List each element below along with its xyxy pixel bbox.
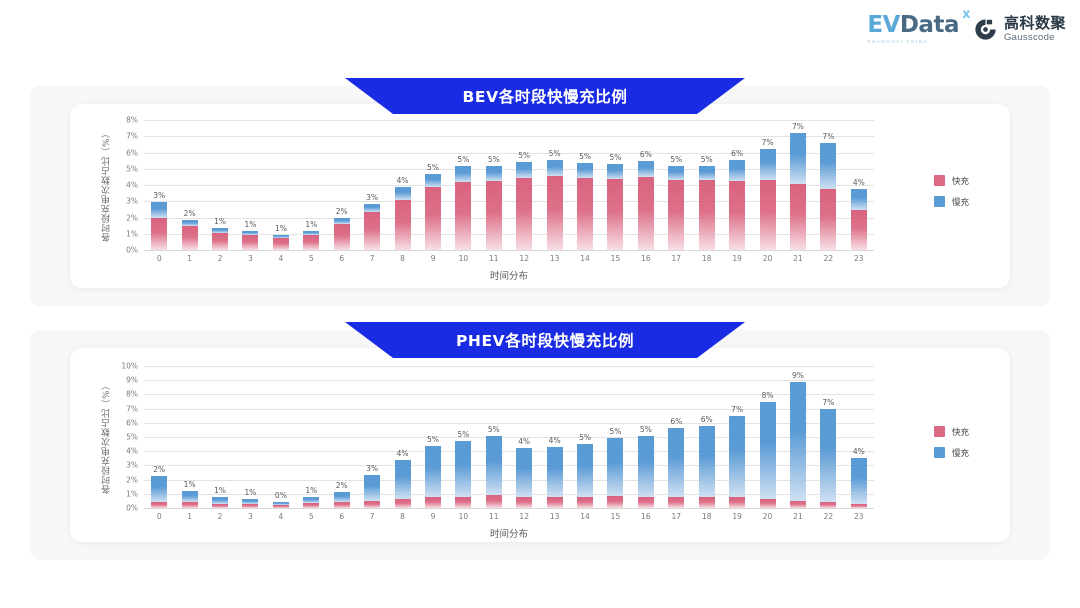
- chart-bev-bar[interactable]: [273, 235, 289, 250]
- chart-phev-bar-slow-segment: [395, 460, 411, 499]
- chart-phev-x-tick: 23: [854, 512, 864, 521]
- chart-phev-y-tick: 7%: [114, 404, 138, 413]
- chart-bev-bar-fast-segment: [242, 235, 258, 250]
- chart-phev-x-axis-label: 时间分布: [144, 526, 874, 540]
- chart-phev-bar-fast-segment: [760, 499, 776, 508]
- chart-phev-bar[interactable]: [851, 458, 867, 508]
- chart-bev-x-tick: 18: [702, 254, 712, 263]
- chart-bev-bar[interactable]: [455, 166, 471, 250]
- chart-phev-x-tick: 14: [580, 512, 590, 521]
- chart-bev-bar-value-label: 4%: [853, 178, 865, 187]
- chart-bev-bar-value-label: 5%: [670, 155, 682, 164]
- chart-phev-x-axis-line: [144, 508, 874, 509]
- chart-phev-bar-slow-segment: [699, 426, 715, 496]
- logo-group: EVDatax SHANGHAI CHINA 高科数聚 Gausscode: [867, 14, 1066, 44]
- chart-bev-bar-value-label: 1%: [245, 220, 257, 229]
- chart-bev-bar-value-label: 5%: [518, 151, 530, 160]
- chart-bev-bar-value-label: 1%: [305, 220, 317, 229]
- chart-bev-bar-slow-segment: [516, 162, 532, 177]
- chart-bev-bar-slow-segment: [820, 143, 836, 189]
- chart-phev-bar-value-label: 5%: [457, 430, 469, 439]
- chart-bev-bar-fast-segment: [364, 212, 380, 250]
- chart-phev-bar-fast-segment: [607, 496, 623, 508]
- chart-bev-bar-fast-segment: [668, 180, 684, 250]
- chart-phev-bar-slow-segment: [760, 402, 776, 499]
- chart-bev-x-tick: 6: [339, 254, 344, 263]
- chart-phev-bar[interactable]: [516, 448, 532, 508]
- chart-phev-bar-slow-segment: [364, 475, 380, 501]
- chart-bev-bar-value-label: 4%: [397, 176, 409, 185]
- chart-phev-bar[interactable]: [395, 460, 411, 508]
- chart-phev-x-tick: 19: [732, 512, 742, 521]
- chart-phev-bar[interactable]: [577, 444, 593, 508]
- chart-bev-bar[interactable]: [729, 160, 745, 250]
- chart-phev-y-tick: 3%: [114, 461, 138, 470]
- chart-phev-x-tick: 13: [550, 512, 560, 521]
- chart-bev-bar[interactable]: [516, 162, 532, 250]
- chart-bev-bar-fast-segment: [182, 226, 198, 250]
- gausscode-cn-name: 高科数聚: [1004, 16, 1066, 31]
- chart-phev-x-tick: 2: [218, 512, 223, 521]
- chart-phev-bar-slow-segment: [668, 428, 684, 496]
- chart-phev-bar-fast-segment: [395, 499, 411, 508]
- evdata-x-icon: x: [962, 8, 970, 21]
- chart-bev-bar-fast-segment: [790, 184, 806, 250]
- chart-bev-bar-value-label: 5%: [610, 153, 622, 162]
- chart-bev-bar-fast-segment: [486, 181, 502, 250]
- chart-phev-y-tick: 0%: [114, 504, 138, 513]
- bev-card: 各时段充电次数占比（%）0%1%2%3%4%5%6%7%8%3%02%11%21…: [70, 104, 1010, 288]
- chart-phev-bar-value-label: 4%: [549, 436, 561, 445]
- evdata-ev-text: EV: [867, 12, 900, 38]
- chart-phev-x-tick: 10: [459, 512, 469, 521]
- chart-bev-bar-value-label: 5%: [457, 155, 469, 164]
- chart-bev-bar-value-label: 5%: [549, 149, 561, 158]
- chart-phev-y-tick: 5%: [114, 433, 138, 442]
- chart-phev-bar-slow-segment: [851, 458, 867, 503]
- chart-phev-x-tick: 8: [400, 512, 405, 521]
- chart-phev-bar-fast-segment: [486, 495, 502, 508]
- chart-phev-bar[interactable]: [303, 497, 319, 508]
- chart-bev-x-tick: 13: [550, 254, 560, 263]
- chart-phev-bar-value-label: 1%: [305, 486, 317, 495]
- chart-bev-x-axis-line: [144, 250, 874, 251]
- chart-phev-bar-value-label: 3%: [366, 464, 378, 473]
- chart-bev-bar-value-label: 1%: [214, 217, 226, 226]
- chart-bev-bar-fast-segment: [638, 177, 654, 250]
- chart-phev-bar[interactable]: [151, 476, 167, 508]
- chart-bev-bar[interactable]: [151, 202, 167, 250]
- chart-phev-bar-value-label: 7%: [731, 405, 743, 414]
- chart-bev-bar-slow-segment: [607, 164, 623, 179]
- chart-phev-bar-slow-segment: [425, 446, 441, 498]
- chart-phev-bar-slow-segment: [182, 491, 198, 502]
- chart-bev-x-tick: 12: [519, 254, 529, 263]
- chart-phev-bar[interactable]: [364, 475, 380, 508]
- chart-bev-x-tick: 15: [611, 254, 621, 263]
- chart-phev-x-tick: 15: [611, 512, 621, 521]
- chart-phev-bar[interactable]: [668, 428, 684, 508]
- chart-phev-bar[interactable]: [486, 436, 502, 508]
- chart-bev-legend-swatch-fast: [934, 175, 945, 186]
- chart-bev-bar-value-label: 1%: [275, 224, 287, 233]
- chart-phev-y-tick: 8%: [114, 390, 138, 399]
- chart-bev-y-tick: 1%: [114, 229, 138, 238]
- chart-phev-bar-fast-segment: [455, 497, 471, 508]
- chart-phev-bar[interactable]: [425, 446, 441, 508]
- chart-phev-y-tick: 4%: [114, 447, 138, 456]
- chart-bev-legend-label-slow: 慢充: [952, 196, 969, 208]
- chart-phev-x-tick: 6: [339, 512, 344, 521]
- chart-phev-bar-value-label: 6%: [701, 415, 713, 424]
- chart-phev-bar-value-label: 2%: [336, 481, 348, 490]
- chart-bev-y-tick: 7%: [114, 132, 138, 141]
- chart-bev-bar-value-label: 2%: [184, 209, 196, 218]
- chart-phev-x-tick: 17: [672, 512, 682, 521]
- chart-phev-x-tick: 4: [278, 512, 283, 521]
- chart-bev-bar[interactable]: [547, 160, 563, 250]
- chart-bev-bar-value-label: 3%: [153, 191, 165, 200]
- chart-phev-bar-slow-segment: [577, 444, 593, 497]
- chart-bev-bar-slow-segment: [151, 202, 167, 217]
- chart-phev-y-tick: 1%: [114, 489, 138, 498]
- gausscode-en-name: Gausscode: [1004, 33, 1066, 43]
- chart-phev-bar-slow-segment: [790, 382, 806, 501]
- chart-phev-bar-value-label: 5%: [640, 425, 652, 434]
- chart-phev-x-tick: 22: [824, 512, 834, 521]
- chart-phev-y-tick: 6%: [114, 418, 138, 427]
- chart-phev-bar-value-label: 5%: [610, 427, 622, 436]
- chart-bev-bar[interactable]: [395, 187, 411, 250]
- chart-phev-bar-fast-segment: [699, 497, 715, 508]
- chart-bev-bar-slow-segment: [455, 166, 471, 181]
- chart-bev-bar-fast-segment: [151, 218, 167, 251]
- chart-phev-x-tick: 16: [641, 512, 651, 521]
- chart-bev-x-tick: 23: [854, 254, 864, 263]
- chart-phev-bar-value-label: 5%: [488, 425, 500, 434]
- chart-bev-y-tick: 5%: [114, 164, 138, 173]
- chart-bev-bar-fast-segment: [516, 178, 532, 250]
- chart-bev-bar-fast-segment: [851, 210, 867, 250]
- chart-phev-bar[interactable]: [790, 382, 806, 508]
- chart-bev-x-tick: 21: [793, 254, 803, 263]
- chart-phev-legend-item-fast[interactable]: 快充: [934, 426, 969, 438]
- chart-phev-bar-fast-segment: [668, 497, 684, 508]
- chart-phev-bar-value-label: 9%: [792, 371, 804, 380]
- gausscode-logo: 高科数聚 Gausscode: [973, 16, 1066, 43]
- chart-phev-bar-value-label: 1%: [214, 486, 226, 495]
- chart-phev-bar-fast-segment: [364, 501, 380, 508]
- chart-bev-y-axis-label: 各时段充电次数占比（%）: [100, 116, 113, 254]
- chart-bev-y-tick: 0%: [114, 246, 138, 255]
- chart-bev-bar-value-label: 7%: [822, 132, 834, 141]
- bev-banner: BEV各时段快慢充比例: [345, 78, 745, 114]
- chart-phev-bar-fast-segment: [638, 497, 654, 508]
- chart-bev-x-tick: 16: [641, 254, 651, 263]
- chart-phev-bar[interactable]: [699, 426, 715, 508]
- chart-phev-bar[interactable]: [212, 497, 228, 508]
- chart-bev-bar[interactable]: [212, 228, 228, 250]
- chart-bev-bar[interactable]: [607, 164, 623, 250]
- chart-bev-bar-slow-segment: [395, 187, 411, 199]
- chart-phev-legend: 快充慢充: [934, 426, 969, 459]
- chart-bev-bar-fast-segment: [820, 189, 836, 250]
- chart-bev-bar-slow-segment: [668, 166, 684, 181]
- chart-bev-bar-slow-segment: [699, 166, 715, 181]
- chart-bev-x-tick: 10: [459, 254, 469, 263]
- chart-bev-bar-fast-segment: [699, 180, 715, 250]
- chart-phev-bar-slow-segment: [607, 438, 623, 496]
- chart-bev-bar[interactable]: [820, 143, 836, 250]
- chart-bev-gridline: [144, 136, 874, 137]
- gausscode-text: 高科数聚 Gausscode: [1004, 16, 1066, 43]
- chart-phev-bar[interactable]: [638, 436, 654, 508]
- chart-phev-bar-slow-segment: [516, 448, 532, 497]
- chart-bev-bar-slow-segment: [486, 166, 502, 181]
- page-header: EVDatax SHANGHAI CHINA 高科数聚 Gausscode: [0, 0, 1080, 62]
- chart-bev-bar-slow-segment: [790, 133, 806, 184]
- chart-bev-bar-value-label: 3%: [366, 193, 378, 202]
- bev-chart: 各时段充电次数占比（%）0%1%2%3%4%5%6%7%8%3%02%11%21…: [70, 104, 1010, 288]
- chart-bev-bar-fast-segment: [425, 187, 441, 250]
- chart-bev-bar-slow-segment: [425, 174, 441, 188]
- chart-bev-bar-value-label: 2%: [336, 207, 348, 216]
- chart-bev-bar[interactable]: [364, 204, 380, 250]
- chart-bev-bar-value-label: 5%: [701, 155, 713, 164]
- chart-phev-bar-value-label: 8%: [762, 391, 774, 400]
- chart-phev-x-tick: 5: [309, 512, 314, 521]
- chart-bev-y-tick: 3%: [114, 197, 138, 206]
- chart-phev-y-tick: 10%: [114, 362, 138, 371]
- chart-phev-gridline: [144, 366, 874, 367]
- chart-phev-bar-slow-segment: [547, 447, 563, 497]
- chart-phev-bar[interactable]: [547, 447, 563, 508]
- chart-bev-y-tick: 6%: [114, 148, 138, 157]
- chart-bev-x-tick: 3: [248, 254, 253, 263]
- chart-bev-bar-slow-segment: [638, 161, 654, 177]
- chart-phev-bar-fast-segment: [547, 497, 563, 508]
- chart-phev-bar-value-label: 5%: [579, 433, 591, 442]
- chart-bev-bar[interactable]: [425, 174, 441, 250]
- chart-phev-x-tick: 0: [157, 512, 162, 521]
- chart-phev-x-tick: 21: [793, 512, 803, 521]
- chart-bev-bar-slow-segment: [729, 160, 745, 181]
- gausscode-mark-icon: [973, 17, 998, 42]
- chart-phev-bar-slow-segment: [334, 492, 350, 503]
- chart-bev-x-tick: 19: [732, 254, 742, 263]
- chart-phev-bar-value-label: 4%: [853, 447, 865, 456]
- chart-bev-x-tick: 17: [672, 254, 682, 263]
- chart-phev-bar-fast-segment: [425, 497, 441, 508]
- chart-phev-bar-slow-segment: [820, 409, 836, 502]
- chart-bev-bar-fast-segment: [455, 182, 471, 250]
- chart-bev-x-tick: 20: [763, 254, 773, 263]
- chart-phev-bar-value-label: 1%: [184, 480, 196, 489]
- chart-phev-bar[interactable]: [729, 416, 745, 508]
- chart-bev-legend-item-fast[interactable]: 快充: [934, 175, 969, 187]
- chart-bev-bar-fast-segment: [729, 181, 745, 250]
- chart-phev-bar-value-label: 6%: [670, 417, 682, 426]
- chart-phev-legend-item-slow[interactable]: 慢充: [934, 447, 969, 459]
- chart-bev-x-tick: 5: [309, 254, 314, 263]
- chart-phev-y-axis-label: 各时段充电次数占比（%）: [100, 362, 113, 512]
- chart-bev-x-tick: 1: [187, 254, 192, 263]
- bev-banner-title: BEV各时段快慢充比例: [463, 85, 628, 107]
- phev-card: 各时段充电次数占比（%）0%1%2%3%4%5%6%7%8%9%10%2%01%…: [70, 348, 1010, 542]
- chart-bev-legend-swatch-slow: [934, 196, 945, 207]
- chart-bev-bar-value-label: 6%: [731, 149, 743, 158]
- chart-phev-bar-fast-segment: [577, 497, 593, 508]
- chart-bev-bar-value-label: 7%: [792, 122, 804, 131]
- phev-banner: PHEV各时段快慢充比例: [345, 322, 745, 358]
- chart-bev-x-tick: 4: [278, 254, 283, 263]
- chart-bev-bar[interactable]: [182, 220, 198, 250]
- chart-phev-bar-value-label: 1%: [245, 488, 257, 497]
- chart-bev-x-axis-label: 时间分布: [144, 268, 874, 282]
- chart-bev-y-tick: 2%: [114, 213, 138, 222]
- chart-phev-bar-fast-segment: [729, 497, 745, 508]
- chart-phev-bar-value-label: 2%: [153, 465, 165, 474]
- chart-phev-bar[interactable]: [820, 409, 836, 508]
- chart-phev-bar-fast-segment: [790, 501, 806, 508]
- chart-bev-bar-value-label: 5%: [488, 155, 500, 164]
- evdata-logo: EVDatax SHANGHAI CHINA: [867, 14, 959, 44]
- chart-bev-bar-value-label: 5%: [427, 163, 439, 172]
- chart-phev-bar-value-label: 4%: [518, 437, 530, 446]
- phev-panel: 各时段充电次数占比（%）0%1%2%3%4%5%6%7%8%9%10%2%01%…: [30, 330, 1050, 560]
- chart-bev-gridline: [144, 120, 874, 121]
- chart-bev-y-tick: 8%: [114, 116, 138, 125]
- chart-phev-bar-slow-segment: [486, 436, 502, 495]
- chart-phev-bar[interactable]: [760, 402, 776, 508]
- chart-bev-x-tick: 14: [580, 254, 590, 263]
- chart-bev-bar-slow-segment: [364, 204, 380, 212]
- chart-bev-bar-value-label: 6%: [640, 150, 652, 159]
- chart-bev-bar-fast-segment: [303, 235, 319, 250]
- chart-bev-bar-slow-segment: [577, 163, 593, 178]
- chart-phev-bar-fast-segment: [516, 497, 532, 508]
- chart-bev-x-tick: 9: [431, 254, 436, 263]
- chart-bev-bar[interactable]: [303, 231, 319, 250]
- chart-phev-legend-swatch-fast: [934, 426, 945, 437]
- chart-bev-bar-slow-segment: [760, 149, 776, 180]
- chart-phev-x-tick: 1: [187, 512, 192, 521]
- chart-bev-bar[interactable]: [242, 231, 258, 250]
- chart-bev-bar[interactable]: [790, 133, 806, 250]
- chart-phev-y-tick: 2%: [114, 475, 138, 484]
- chart-phev-bar-value-label: 4%: [397, 449, 409, 458]
- chart-bev-bar[interactable]: [668, 166, 684, 251]
- chart-phev-x-tick: 18: [702, 512, 712, 521]
- chart-phev-legend-swatch-slow: [934, 447, 945, 458]
- chart-phev-bar[interactable]: [182, 491, 198, 508]
- chart-bev-bar-value-label: 7%: [762, 138, 774, 147]
- bev-panel: 各时段充电次数占比（%）0%1%2%3%4%5%6%7%8%3%02%11%21…: [30, 86, 1050, 306]
- chart-bev-x-tick: 22: [824, 254, 834, 263]
- chart-phev-bar-slow-segment: [455, 441, 471, 497]
- chart-phev-gridline: [144, 380, 874, 381]
- chart-phev-bar[interactable]: [455, 441, 471, 508]
- chart-bev-legend: 快充慢充: [934, 175, 969, 208]
- evdata-subtitle: SHANGHAI CHINA: [867, 39, 928, 44]
- chart-phev-legend-label-slow: 慢充: [952, 447, 969, 459]
- chart-bev-x-tick: 11: [489, 254, 499, 263]
- chart-bev-bar-fast-segment: [547, 176, 563, 250]
- chart-bev-bar[interactable]: [760, 149, 776, 250]
- chart-phev-bar-slow-segment: [151, 476, 167, 502]
- chart-phev-bar[interactable]: [607, 438, 623, 508]
- chart-phev-bar-slow-segment: [638, 436, 654, 496]
- chart-bev-x-tick: 2: [218, 254, 223, 263]
- chart-bev-bar-fast-segment: [607, 179, 623, 251]
- chart-bev-bar[interactable]: [851, 189, 867, 250]
- chart-phev-x-tick: 11: [489, 512, 499, 521]
- evdata-data-text: Data: [900, 12, 959, 38]
- chart-phev-bar-value-label: 5%: [427, 435, 439, 444]
- chart-phev-x-tick: 7: [370, 512, 375, 521]
- chart-bev-x-tick: 8: [400, 254, 405, 263]
- chart-bev-bar[interactable]: [334, 218, 350, 250]
- chart-phev-bar-slow-segment: [729, 416, 745, 498]
- chart-bev-x-tick: 0: [157, 254, 162, 263]
- chart-bev-bar[interactable]: [577, 163, 593, 250]
- chart-phev-bar[interactable]: [334, 492, 350, 508]
- chart-bev-bar-value-label: 5%: [579, 152, 591, 161]
- chart-phev-legend-label-fast: 快充: [952, 426, 969, 438]
- chart-phev-y-tick: 9%: [114, 376, 138, 385]
- chart-bev-bar[interactable]: [486, 166, 502, 250]
- chart-bev-x-tick: 7: [370, 254, 375, 263]
- chart-bev-legend-label-fast: 快充: [952, 175, 969, 187]
- chart-bev-bar[interactable]: [699, 166, 715, 251]
- chart-bev-bar-fast-segment: [212, 233, 228, 250]
- chart-bev-bar-fast-segment: [334, 224, 350, 250]
- chart-phev-bar-value-label: 7%: [822, 398, 834, 407]
- phev-banner-title: PHEV各时段快慢充比例: [456, 329, 634, 351]
- chart-phev-x-tick: 12: [519, 512, 529, 521]
- chart-bev-legend-item-slow[interactable]: 慢充: [934, 196, 969, 208]
- chart-bev-bar-fast-segment: [760, 180, 776, 250]
- chart-bev-bar-slow-segment: [851, 189, 867, 210]
- chart-phev-bar-value-label: 0%: [275, 491, 287, 500]
- phev-chart: 各时段充电次数占比（%）0%1%2%3%4%5%6%7%8%9%10%2%01%…: [70, 348, 1010, 542]
- chart-bev-bar-fast-segment: [395, 200, 411, 250]
- chart-bev-bar[interactable]: [638, 161, 654, 250]
- chart-bev-bar-slow-segment: [547, 160, 563, 176]
- chart-phev-x-tick: 9: [431, 512, 436, 521]
- chart-bev-bar-fast-segment: [273, 238, 289, 250]
- chart-bev-bar-fast-segment: [577, 178, 593, 250]
- chart-phev-bar[interactable]: [242, 499, 258, 508]
- chart-phev-x-tick: 20: [763, 512, 773, 521]
- chart-bev-y-tick: 4%: [114, 181, 138, 190]
- chart-phev-x-tick: 3: [248, 512, 253, 521]
- evdata-wordmark: EVDatax: [867, 14, 959, 37]
